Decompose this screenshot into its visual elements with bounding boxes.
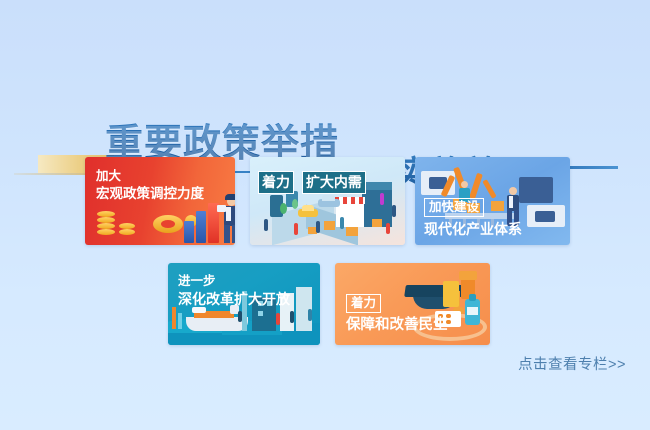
card-3-line2: 现代化产业体系 [424, 221, 522, 238]
policy-card-livelihood[interactable]: 着力 保障和改善民生 [335, 263, 490, 345]
card-4-line2: 深化改革扩大开放 [178, 291, 290, 308]
card-1-line2: 宏观政策调控力度 [96, 186, 204, 202]
card-2-line2: 扩大内需 [302, 171, 366, 194]
card-5-line1: 着力 [346, 294, 381, 313]
card-4-text: 进一步 深化改革扩大开放 [178, 274, 290, 308]
title-block: 重要政策举措 及实施效果 [0, 52, 650, 152]
card-4-line1: 进一步 [178, 274, 290, 289]
card-3-line1: 加快建设 [424, 198, 484, 217]
policy-card-modern-industry[interactable]: 加快建设 现代化产业体系 [415, 157, 570, 245]
card-1-text: 加大 宏观政策调控力度 [96, 169, 204, 203]
view-column-link[interactable]: 点击查看专栏>> [518, 353, 626, 374]
policy-card-expand-demand[interactable]: 着力 扩大内需 [250, 157, 405, 245]
card-3-text: 加快建设 现代化产业体系 [424, 197, 522, 238]
card-2-line1: 着力 [258, 171, 294, 194]
card-5-text: 着力 保障和改善民生 [346, 293, 448, 335]
policy-banner: 重要政策举措 及实施效果 [0, 0, 650, 430]
card-5-line2: 保障和改善民生 [346, 317, 448, 335]
policy-card-reform-opening[interactable]: 进一步 深化改革扩大开放 [168, 263, 320, 345]
card-2-text: 着力 扩大内需 [258, 171, 366, 194]
card-1-line1: 加大 [96, 169, 204, 184]
policy-card-macro-control[interactable]: 加大 宏观政策调控力度 [85, 157, 235, 245]
